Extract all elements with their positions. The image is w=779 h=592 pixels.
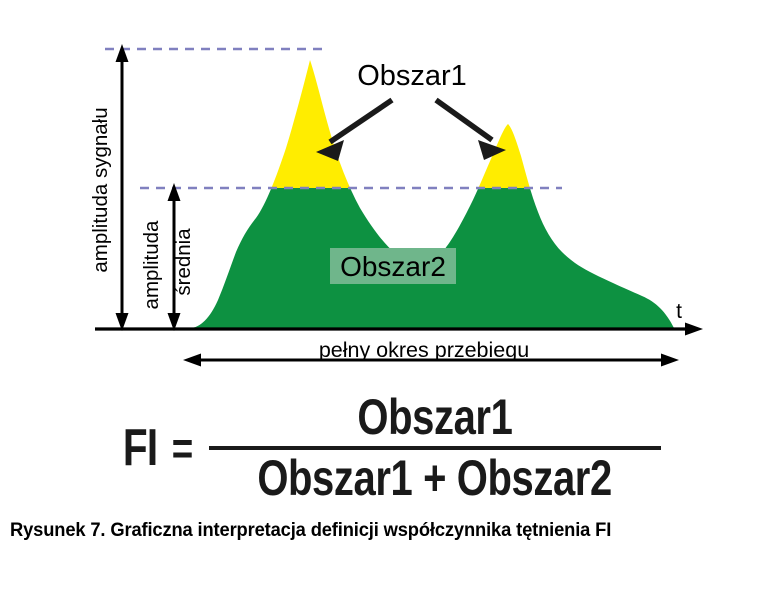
- figure-root: amplituda sygnału amplituda średnia t Ob…: [0, 0, 779, 592]
- formula-lhs: FI: [123, 422, 157, 474]
- formula-block: FI = Obszar1 Obszar1 + Obszar2: [0, 378, 779, 518]
- formula-denominator: Obszar1 + Obszar2: [255, 450, 616, 505]
- area2-label-group: Obszar2: [330, 248, 456, 284]
- caption-block: Rysunek 7. Graficzna interpretacja defin…: [10, 518, 770, 544]
- formula-fraction: Obszar1 Obszar1 + Obszar2: [209, 391, 660, 505]
- period-label: pełny okres przebiegu: [319, 338, 529, 362]
- y-axis-inner-label-line1: amplituda: [140, 220, 163, 309]
- area1-right-arrow: [436, 100, 506, 160]
- figure-caption: Rysunek 7. Graficzna interpretacja defin…: [10, 518, 724, 544]
- formula-numerator: Obszar1: [354, 391, 515, 446]
- area1-label: Obszar1: [357, 60, 467, 92]
- y-axis-inner-label-line2: średnia: [172, 228, 195, 296]
- formula-equals-sign: =: [171, 425, 193, 471]
- signal-amplitude-arrow: [116, 44, 129, 331]
- y-axis-outer-label: amplituda sygnału: [89, 107, 112, 272]
- area2-label: Obszar2: [340, 251, 446, 282]
- pulsation-diagram: amplituda sygnału amplituda średnia t Ob…: [0, 0, 779, 380]
- x-axis-label: t: [676, 300, 682, 323]
